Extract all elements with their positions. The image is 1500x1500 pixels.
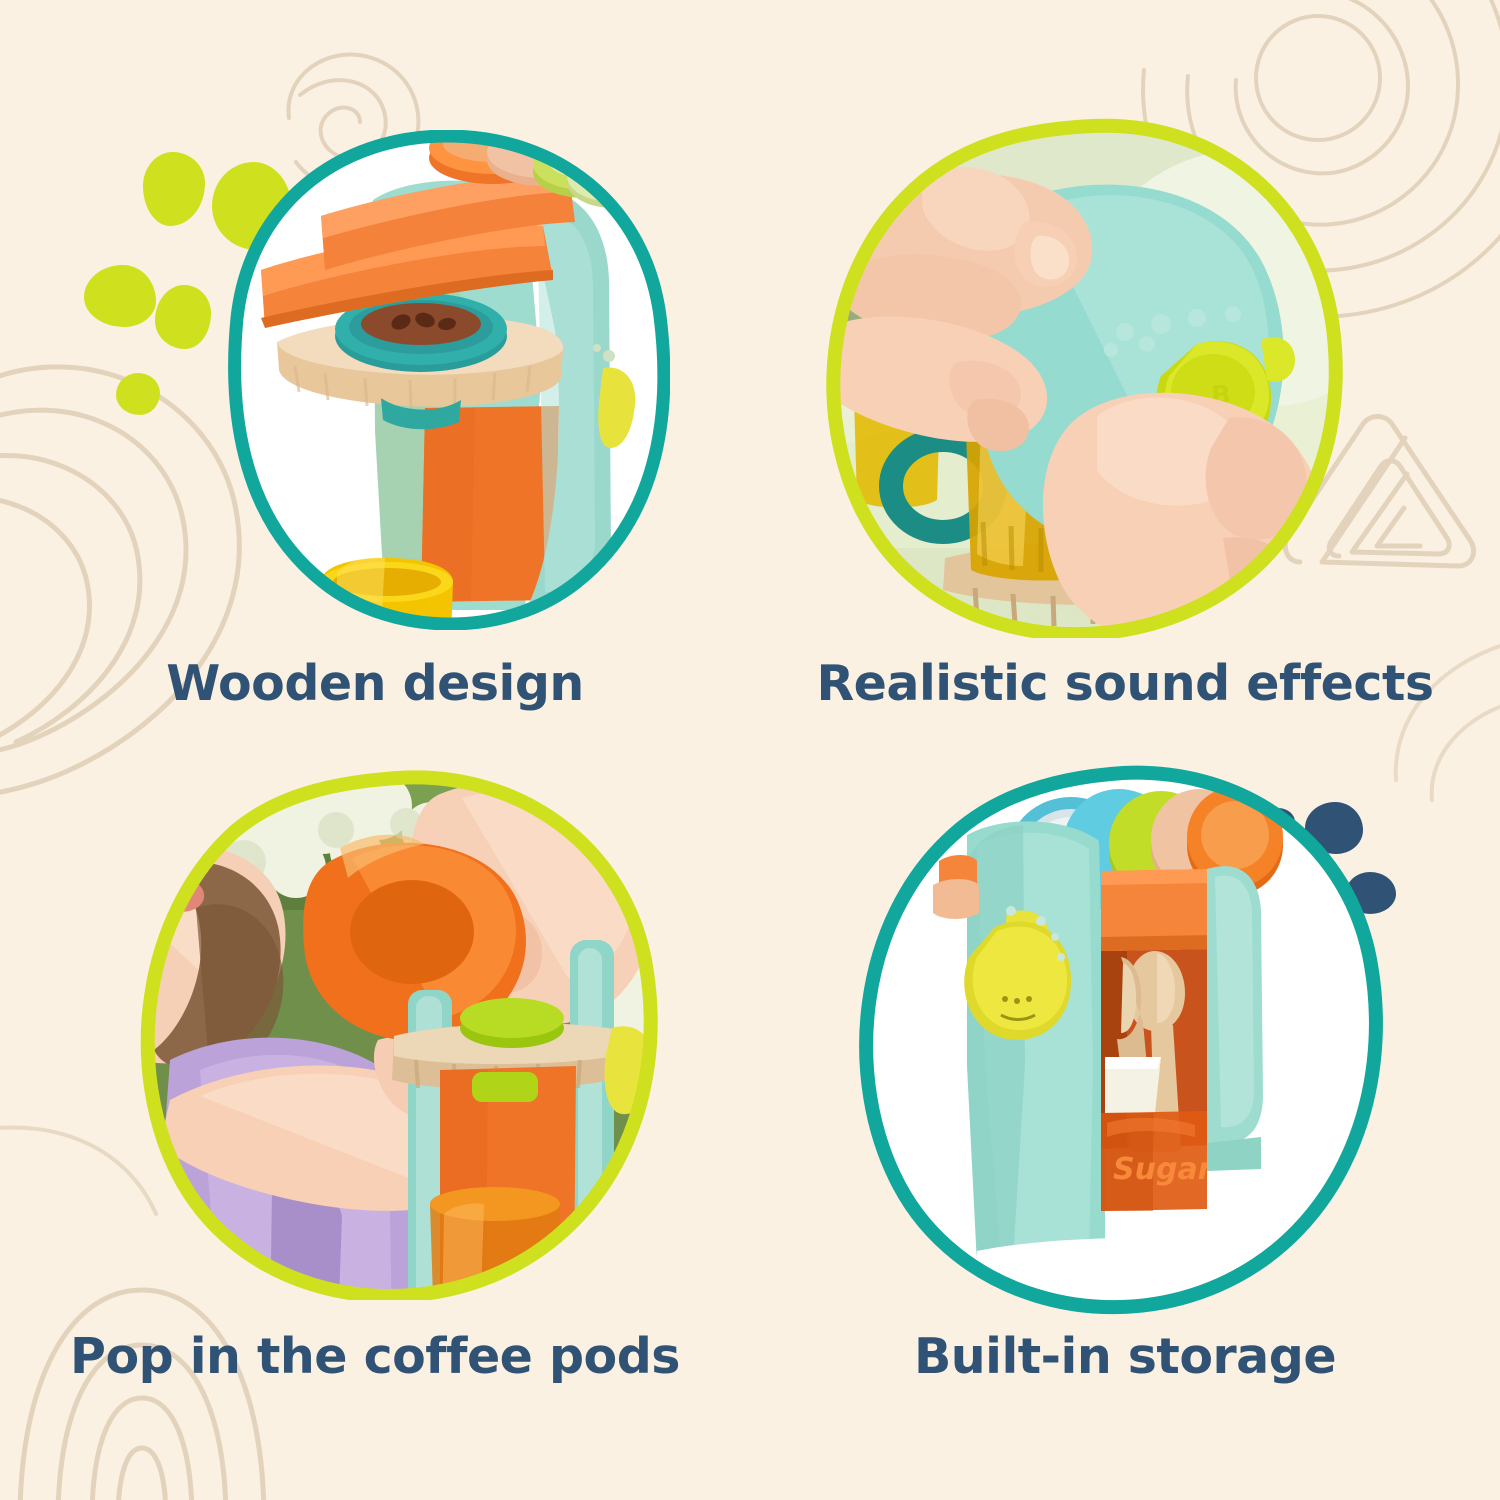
feature-caption-realistic-sound-effects: Realistic sound effects — [750, 655, 1500, 712]
caption-text: Realistic sound effects — [816, 655, 1433, 712]
sugar-packet-label: Sugar — [1113, 1152, 1215, 1187]
infographic-canvas: Wooden design — [0, 0, 1500, 1500]
decor-dot — [116, 373, 160, 415]
feature-card-pop-in-the-coffee-pods: Pop in the coffee pods — [0, 750, 750, 1500]
decor-dot — [84, 265, 156, 327]
feature-image-pop-in-the-coffee-pods — [140, 770, 660, 1300]
feature-caption-wooden-design: Wooden design — [0, 655, 750, 712]
feature-image-wooden-design — [225, 130, 670, 630]
feature-image-built-in-storage: 3 — [855, 765, 1385, 1325]
photo-blob-tr: B — [825, 118, 1345, 638]
caption-text: Built-in storage — [914, 1328, 1336, 1385]
decor-dot — [143, 152, 205, 226]
decor-dot — [155, 285, 211, 349]
feature-caption-built-in-storage: Built-in storage — [750, 1328, 1500, 1385]
feature-grid: Wooden design — [0, 0, 1500, 1500]
photo-blob-bl — [140, 770, 660, 1300]
photo-blob-br: 3 — [855, 765, 1385, 1325]
feature-image-realistic-sound-effects: B — [825, 118, 1345, 638]
feature-card-wooden-design: Wooden design — [0, 0, 750, 750]
caption-text: Wooden design — [166, 655, 584, 712]
caption-text: Pop in the coffee pods — [70, 1328, 680, 1385]
feature-card-realistic-sound-effects: B — [750, 0, 1500, 750]
photo-blob-tl — [225, 130, 670, 630]
feature-caption-pop-in-the-coffee-pods: Pop in the coffee pods — [0, 1328, 750, 1385]
feature-card-built-in-storage: 3 — [750, 750, 1500, 1500]
